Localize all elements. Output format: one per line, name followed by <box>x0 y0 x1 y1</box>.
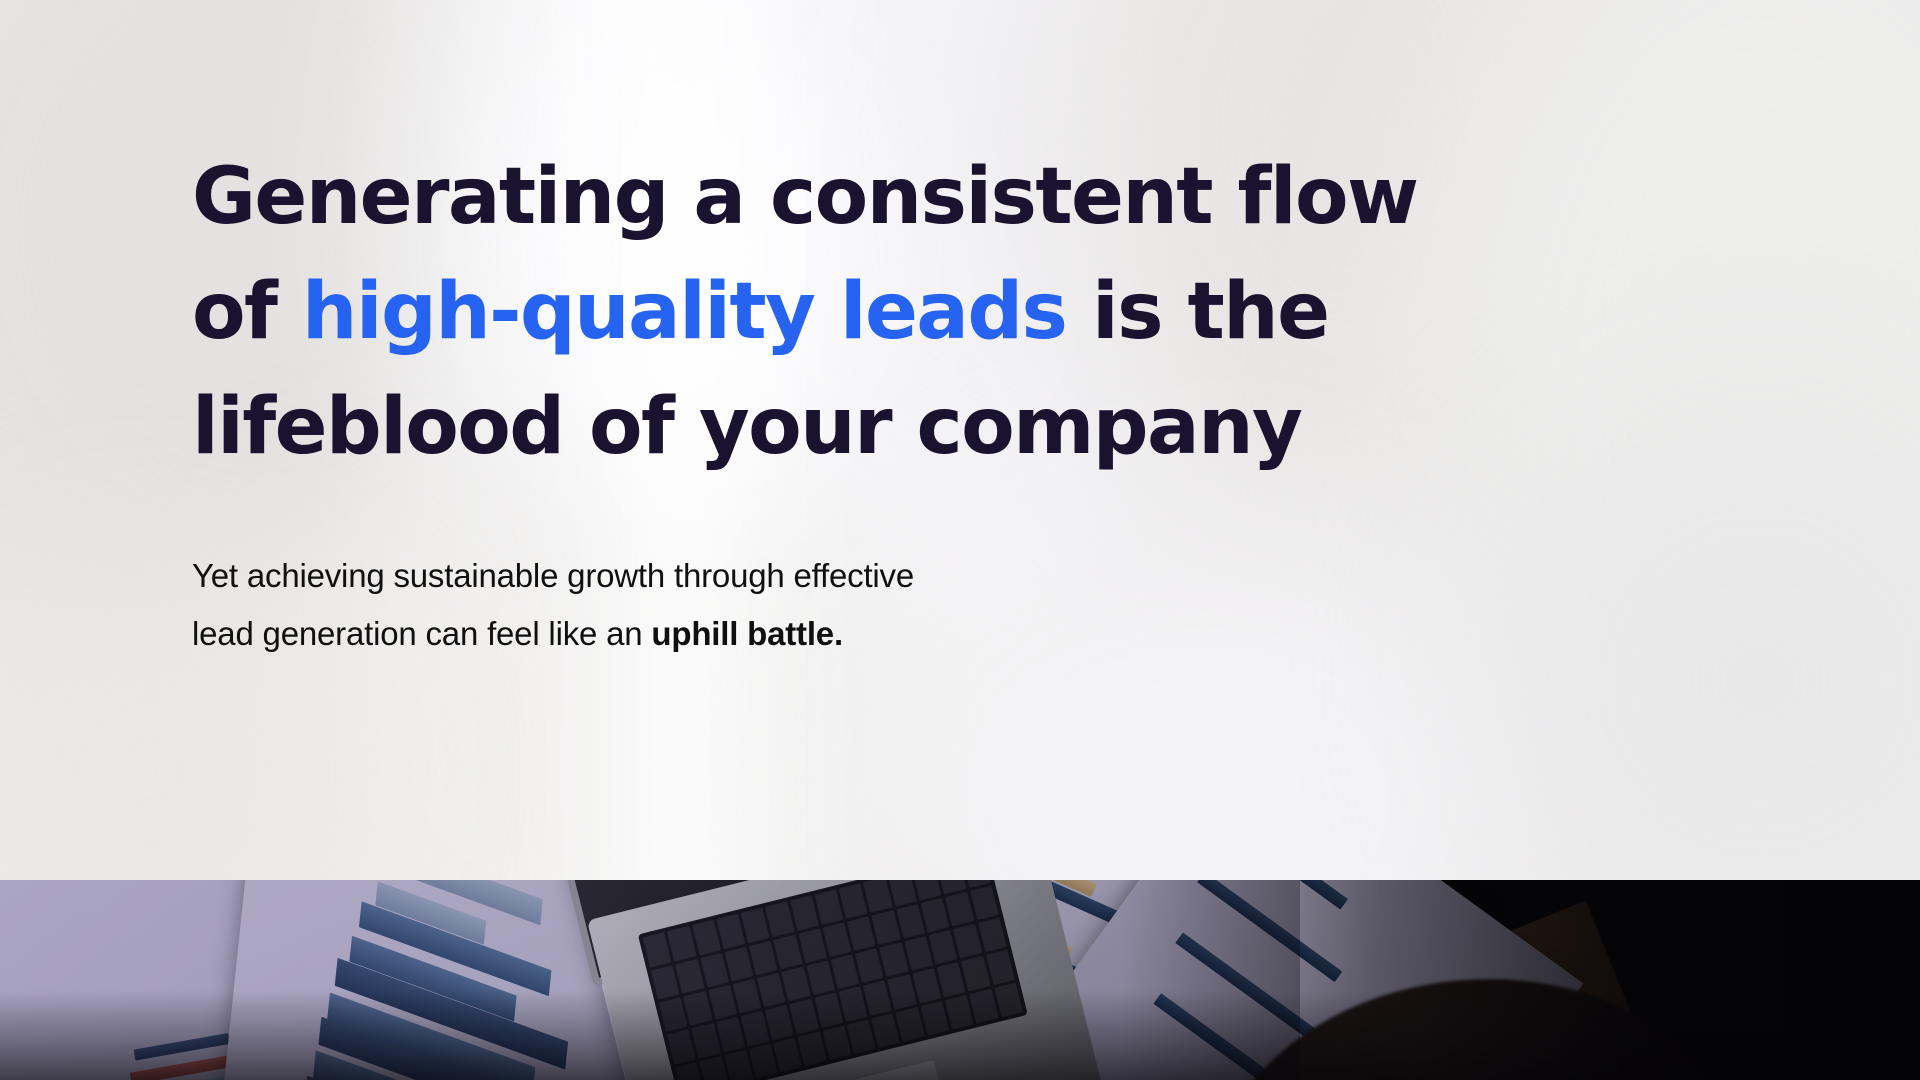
headline-line-2-suffix: is the <box>1066 267 1328 357</box>
slide-copy: Generating a consistent flow of high-qua… <box>192 140 1532 663</box>
photo-bottom-vignette <box>0 990 1920 1080</box>
marketing-slide: Generating a consistent flow of high-qua… <box>0 0 1920 1080</box>
subtitle-emphasis: uphill battle. <box>651 615 843 652</box>
subtitle-line-2-prefix: lead generation can feel like an <box>192 615 651 652</box>
desk-photo-strip <box>0 880 1920 1080</box>
slide-subtitle: Yet achieving sustainable growth through… <box>192 547 1532 663</box>
page-title: Generating a consistent flow of high-qua… <box>192 140 1532 485</box>
subtitle-line-1: Yet achieving sustainable growth through… <box>192 557 914 594</box>
headline-line-2-prefix: of <box>192 267 302 357</box>
headline-accent-phrase: high-quality leads <box>302 267 1067 357</box>
headline-line-1: Generating a consistent flow <box>192 152 1417 242</box>
headline-line-3: lifeblood of your company <box>192 382 1301 472</box>
